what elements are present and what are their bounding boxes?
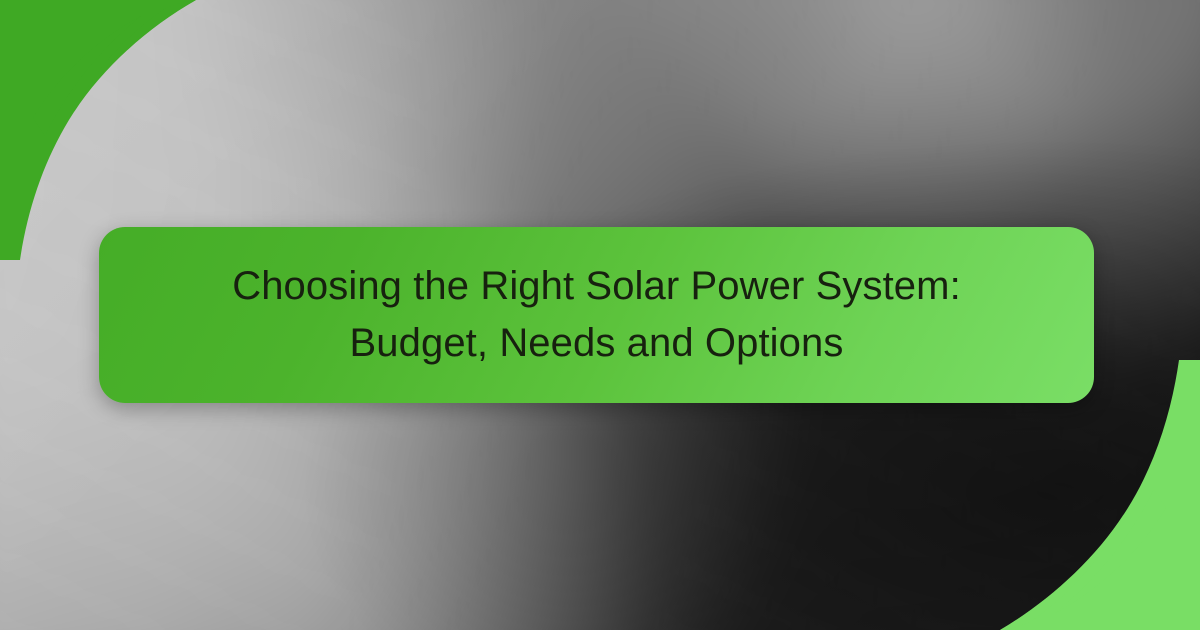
page-title: Choosing the Right Solar Power System: B…	[232, 258, 961, 372]
title-card: Choosing the Right Solar Power System: B…	[99, 227, 1094, 403]
poster-canvas: Choosing the Right Solar Power System: B…	[0, 0, 1200, 630]
